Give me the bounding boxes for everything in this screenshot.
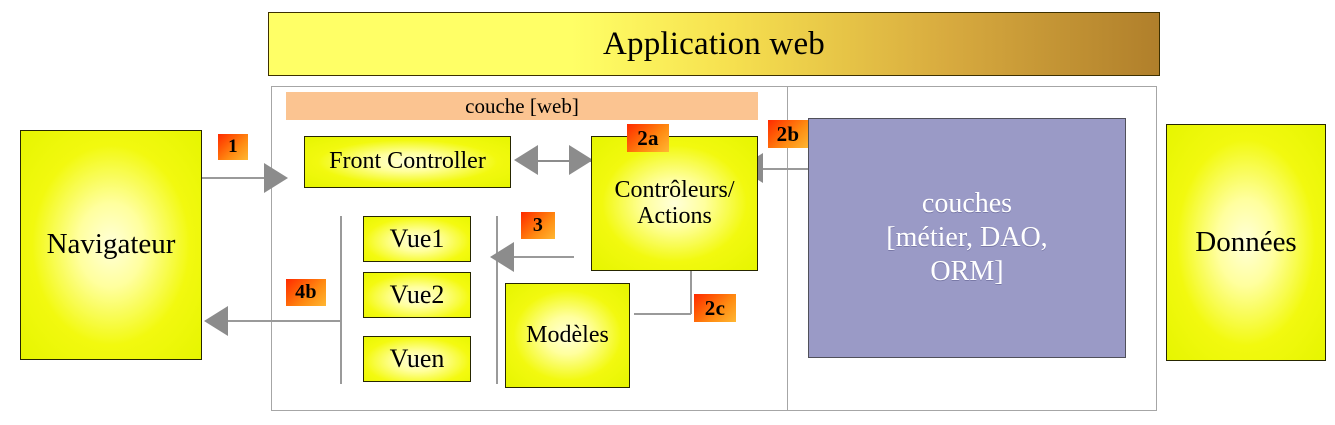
node-front-controller[interactable]: Front Controller bbox=[304, 136, 511, 188]
node-controleurs-actions[interactable]: Contrôleurs/ Actions bbox=[591, 136, 758, 271]
step-badge-2a[interactable]: 2a bbox=[627, 124, 669, 152]
step-badge-1-label: 1 bbox=[228, 136, 238, 158]
step-badge-4b-label: 4b bbox=[295, 281, 317, 304]
step-badge-2b[interactable]: 2b bbox=[768, 120, 808, 148]
node-controleurs-line-1: Contrôleurs/ bbox=[615, 177, 735, 203]
application-web-title: Application web bbox=[603, 26, 825, 63]
node-couches-line-1: couches bbox=[922, 188, 1012, 219]
node-couches-metier-label: couches [métier, DAO, ORM] bbox=[886, 187, 1047, 289]
node-navigateur[interactable]: Navigateur bbox=[20, 130, 202, 360]
couche-web-label: couche [web] bbox=[465, 94, 579, 119]
couche-web-band: couche [web] bbox=[286, 92, 758, 120]
node-vue1[interactable]: Vue1 bbox=[363, 216, 471, 262]
application-web-header: Application web bbox=[268, 12, 1160, 76]
node-donnees[interactable]: Données bbox=[1166, 124, 1326, 361]
node-controleurs-actions-label: Contrôleurs/ Actions bbox=[615, 178, 735, 230]
step-badge-2c-label: 2c bbox=[705, 296, 725, 321]
step-badge-2a-label: 2a bbox=[637, 126, 659, 151]
arrow-shaft-2c-horizontal bbox=[634, 313, 691, 315]
node-couches-line-3: ORM] bbox=[930, 256, 1003, 287]
step-badge-3-label: 3 bbox=[533, 214, 543, 237]
arrow-shaft-4b bbox=[228, 320, 342, 322]
node-vue2-label: Vue2 bbox=[390, 280, 445, 310]
node-vue1-label: Vue1 bbox=[390, 224, 445, 254]
step-badge-1[interactable]: 1 bbox=[218, 134, 248, 160]
step-badge-3[interactable]: 3 bbox=[521, 212, 555, 239]
arrowhead-left-icon-step3 bbox=[490, 242, 514, 272]
node-donnees-label: Données bbox=[1195, 227, 1296, 258]
arrowhead-right-icon-step1 bbox=[264, 163, 288, 193]
step-badge-2c[interactable]: 2c bbox=[694, 294, 736, 322]
arrow-shaft-3 bbox=[512, 256, 574, 258]
node-vuen-label: Vuen bbox=[390, 344, 445, 374]
arrow-shaft-2c-vertical bbox=[690, 271, 692, 314]
arrowhead-right-icon-step2a bbox=[569, 145, 593, 175]
views-brace-left bbox=[340, 216, 342, 384]
step-badge-2b-label: 2b bbox=[777, 122, 800, 147]
node-navigateur-label: Navigateur bbox=[47, 229, 176, 260]
node-couches-metier-dao-orm[interactable]: couches [métier, DAO, ORM] bbox=[808, 118, 1126, 358]
node-vue2[interactable]: Vue2 bbox=[363, 272, 471, 318]
arrowhead-left-icon-step2a bbox=[514, 145, 538, 175]
node-couches-line-2: [métier, DAO, bbox=[886, 222, 1047, 253]
node-vuen[interactable]: Vuen bbox=[363, 336, 471, 382]
node-controleurs-line-2: Actions bbox=[637, 203, 712, 229]
arrowhead-left-icon-step4b bbox=[204, 306, 228, 336]
step-badge-4b[interactable]: 4b bbox=[286, 279, 326, 306]
node-modeles-label: Modèles bbox=[526, 323, 609, 349]
node-modeles[interactable]: Modèles bbox=[505, 283, 630, 388]
diagram-canvas: Application web couche [web] Navigateur … bbox=[0, 0, 1335, 425]
node-front-controller-label: Front Controller bbox=[329, 149, 486, 175]
